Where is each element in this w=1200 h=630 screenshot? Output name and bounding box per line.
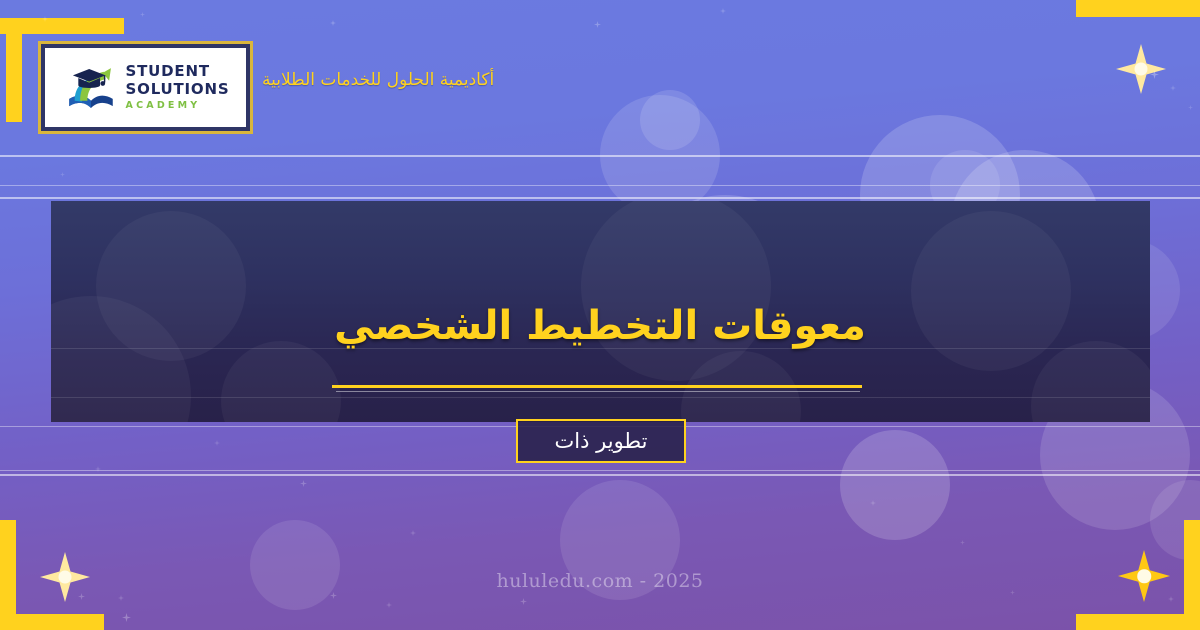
logo-line-1: STUDENT: [126, 64, 230, 79]
logo-line-3: ACADEMY: [126, 101, 230, 111]
horizontal-rule: [0, 197, 1200, 199]
sparkle-core: [1135, 63, 1148, 76]
corner-bracket-top-right: [1076, 0, 1200, 17]
page-title: معوقات التخطيط الشخصي: [0, 303, 1200, 349]
horizontal-rule: [0, 185, 1200, 186]
corner-bracket-bottom-right: [1076, 614, 1200, 630]
logo-frame[interactable]: STUDENT SOLUTIONS ACADEMY: [38, 41, 253, 134]
title-underline-secondary: [336, 391, 860, 392]
title-underline: [332, 385, 862, 388]
card-bubble: [1031, 341, 1150, 422]
decorative-bubble: [250, 520, 340, 610]
card-bubble: [221, 341, 341, 422]
academy-name-arabic: أكاديمية الحلول للخدمات الطلابية: [262, 70, 494, 90]
logo-inner: STUDENT SOLUTIONS ACADEMY: [45, 48, 246, 127]
decorative-bubble: [640, 90, 700, 150]
logo-wordmark: STUDENT SOLUTIONS ACADEMY: [126, 64, 230, 111]
horizontal-rule: [0, 474, 1200, 476]
decorative-bubble: [840, 430, 950, 540]
logo-line-2: SOLUTIONS: [126, 82, 230, 97]
footer-watermark: hululedu.com - 2025: [0, 570, 1200, 592]
category-badge[interactable]: تطوير ذات: [516, 419, 686, 463]
slide-canvas: معوقات التخطيط الشخصي تطوير ذات: [0, 0, 1200, 630]
corner-bracket-top-left: [6, 18, 22, 122]
horizontal-rule: [0, 155, 1200, 157]
graduation-cap-book-arrow-logo-icon: [62, 59, 120, 117]
card-rule: [51, 397, 1150, 398]
horizontal-rule: [0, 470, 1200, 471]
